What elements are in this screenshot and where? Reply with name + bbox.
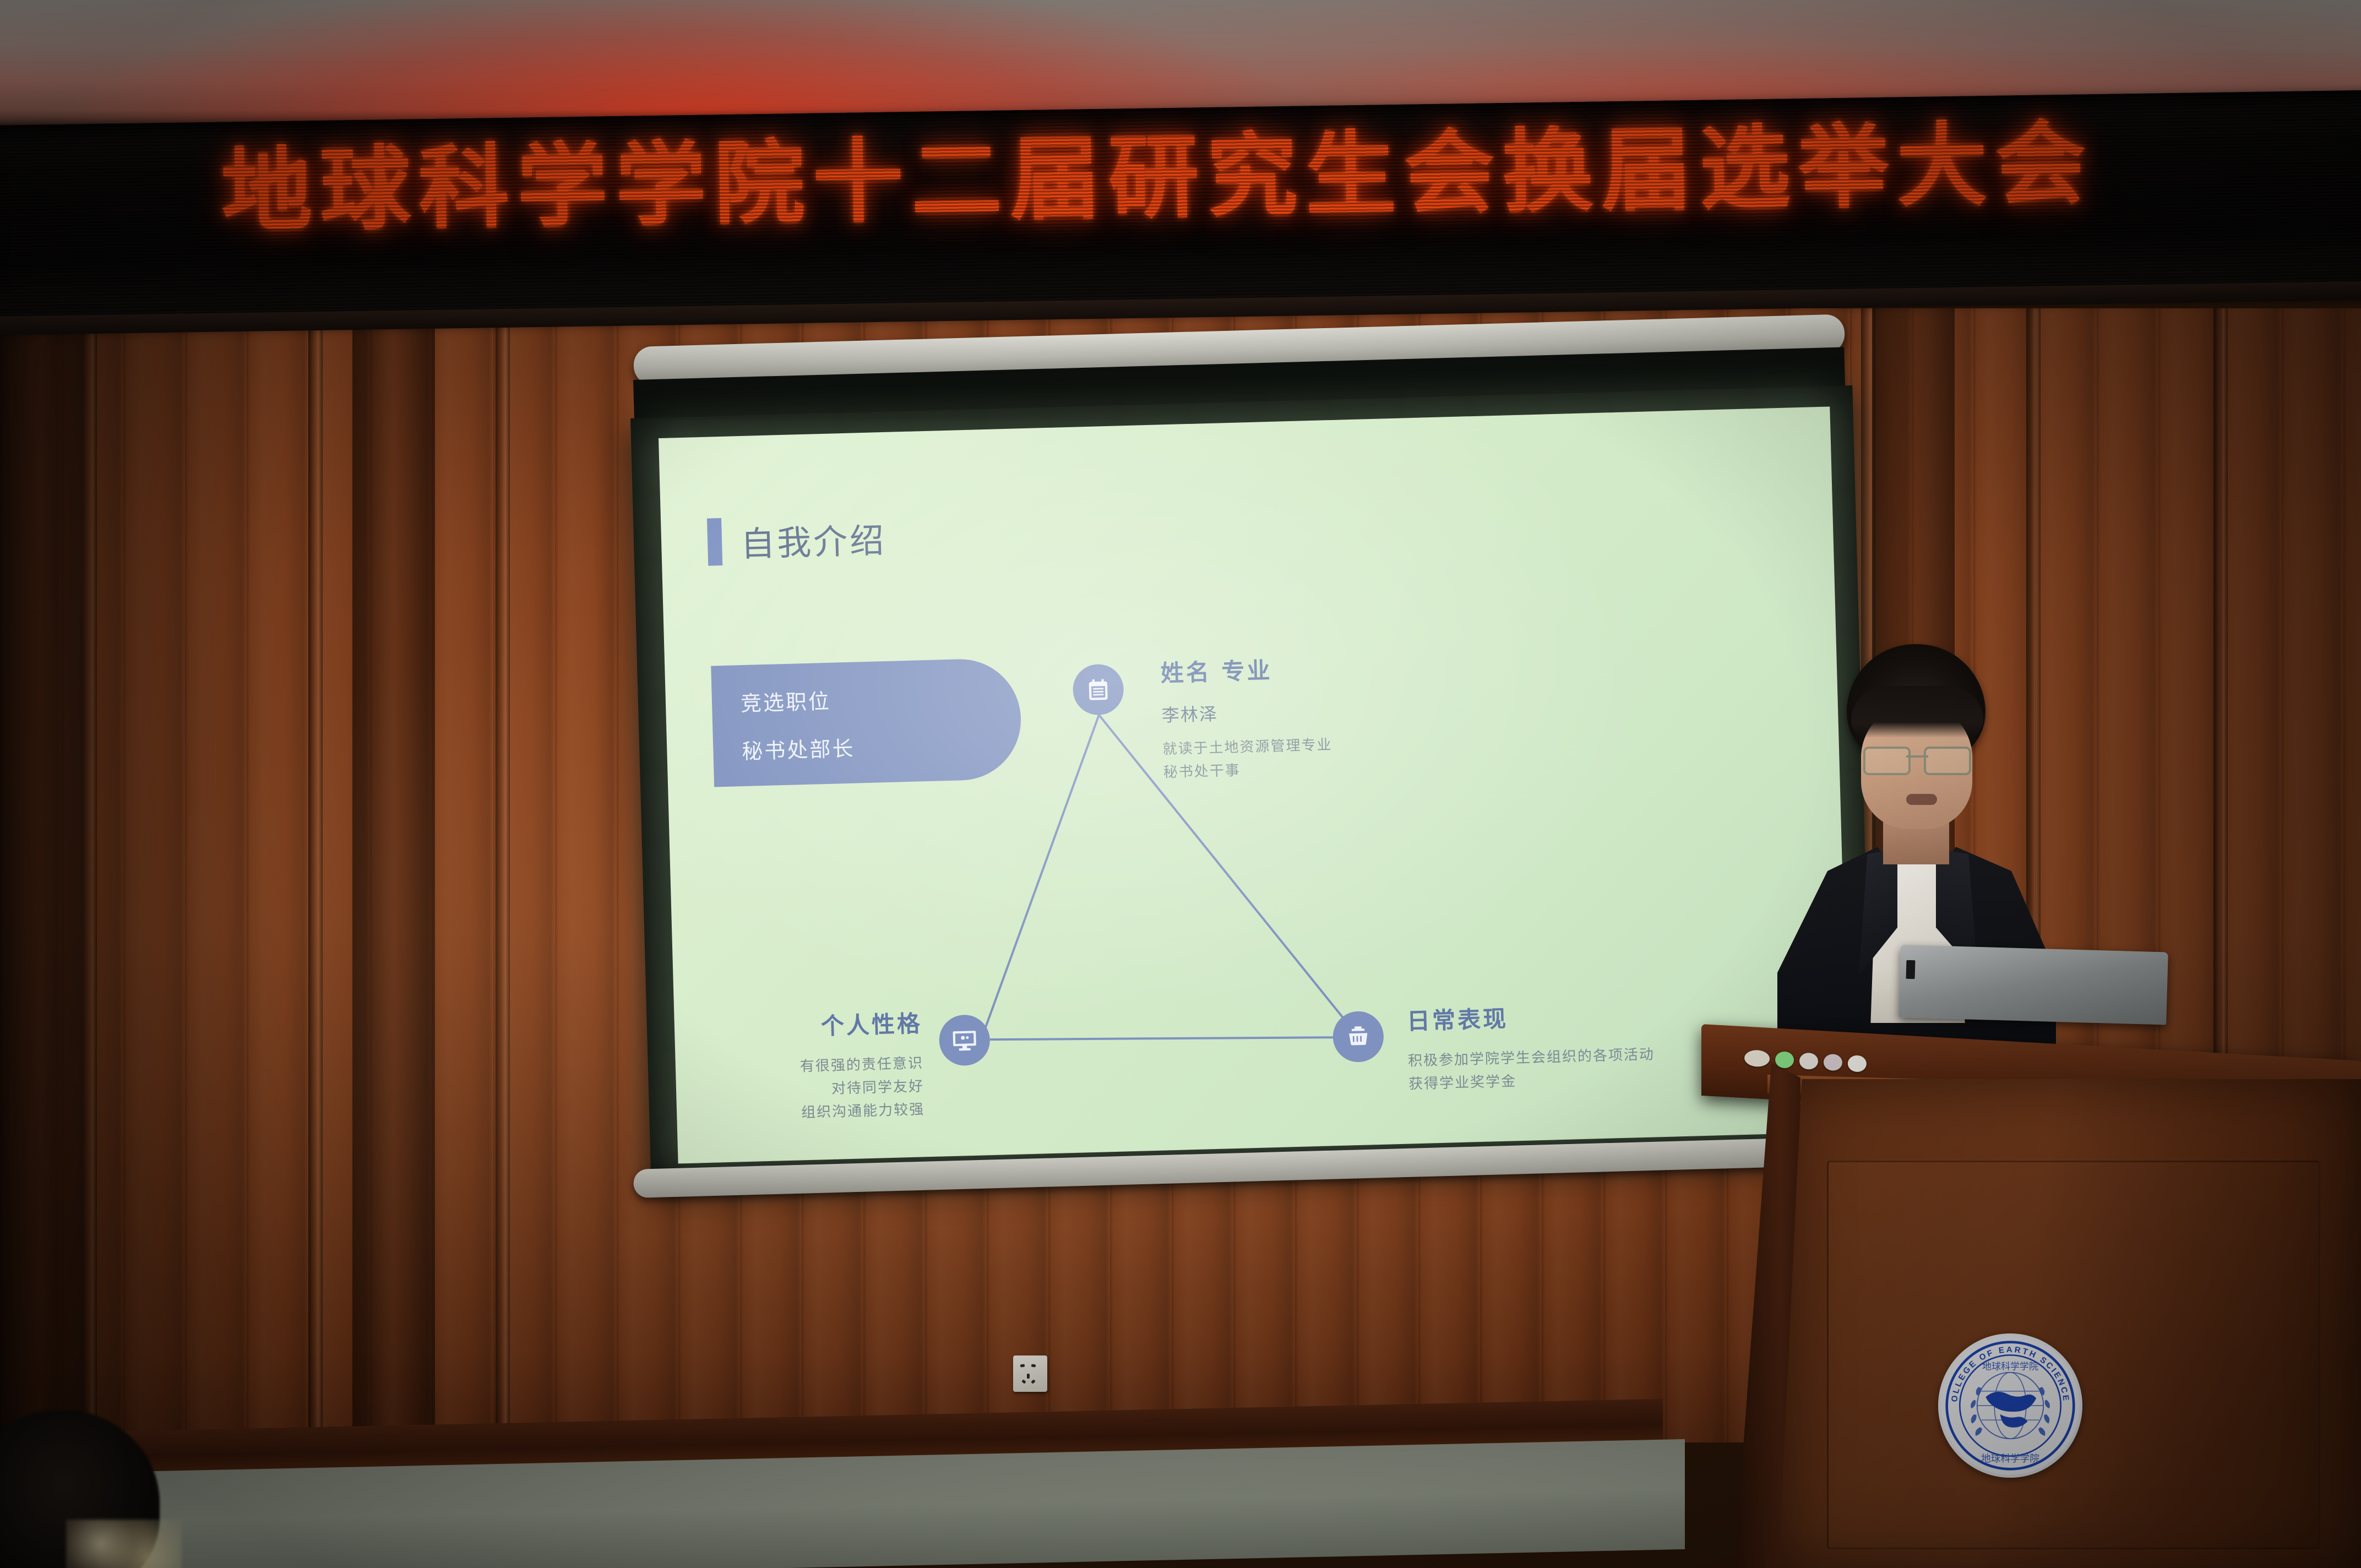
presenter-mouth xyxy=(1906,794,1937,805)
node-title: 日常表现 xyxy=(1406,997,1654,1037)
wall-power-outlet[interactable] xyxy=(1013,1355,1047,1392)
indicator-light[interactable] xyxy=(1823,1054,1843,1071)
laptop-webcam-icon xyxy=(1906,960,1916,979)
college-emblem: COLLEGE OF EARTH SCIENCES 地球科学学院 地球科学学院 xyxy=(1938,1333,2082,1478)
presenter-glasses xyxy=(1863,747,1971,773)
laptop[interactable] xyxy=(1898,945,2168,1025)
node-line: 组织沟通能力较强 xyxy=(759,1098,925,1126)
emblem-inner-text-bottom: 地球科学学院 xyxy=(1981,1453,2039,1464)
node-title: 个人性格 xyxy=(757,1005,923,1043)
indicator-light[interactable] xyxy=(1775,1051,1794,1069)
presenter-hair-fringe xyxy=(1851,686,1983,738)
node-text-personality: 个人性格 有很强的责任意识 对待同学友好 组织沟通能力较强 xyxy=(757,1005,925,1125)
indicator-light[interactable] xyxy=(1847,1055,1867,1072)
node-line: 秘书处干事 xyxy=(1163,756,1333,784)
led-banner-text: 地球科学学院十二届研究生会换届选举大会 xyxy=(221,118,2095,237)
indicator-light[interactable] xyxy=(1744,1049,1770,1067)
projected-slide: 自我介绍 竞选职位 秘书处部长 xyxy=(659,406,1849,1163)
node-text-daily-performance: 日常表现 积极参加学院学生会组织的各项活动 获得学业奖学金 xyxy=(1406,997,1655,1096)
node-text-name-major: 姓名 专业 李林泽 就读于土地资源管理专业 秘书处干事 xyxy=(1160,650,1333,784)
node-title: 姓名 专业 xyxy=(1160,650,1331,688)
node-line: 李林泽 xyxy=(1161,697,1331,730)
node-line: 就读于土地资源管理专业 xyxy=(1162,733,1332,761)
emblem-inner-text-top: 地球科学学院 xyxy=(1982,1362,2038,1373)
foreground-highlight xyxy=(66,1520,182,1568)
conference-room-photo: 地球科学学院十二届研究生会换届选举大会 自我介绍 竞选职位 秘书处部长 xyxy=(0,0,2361,1568)
indicator-light[interactable] xyxy=(1799,1052,1819,1070)
